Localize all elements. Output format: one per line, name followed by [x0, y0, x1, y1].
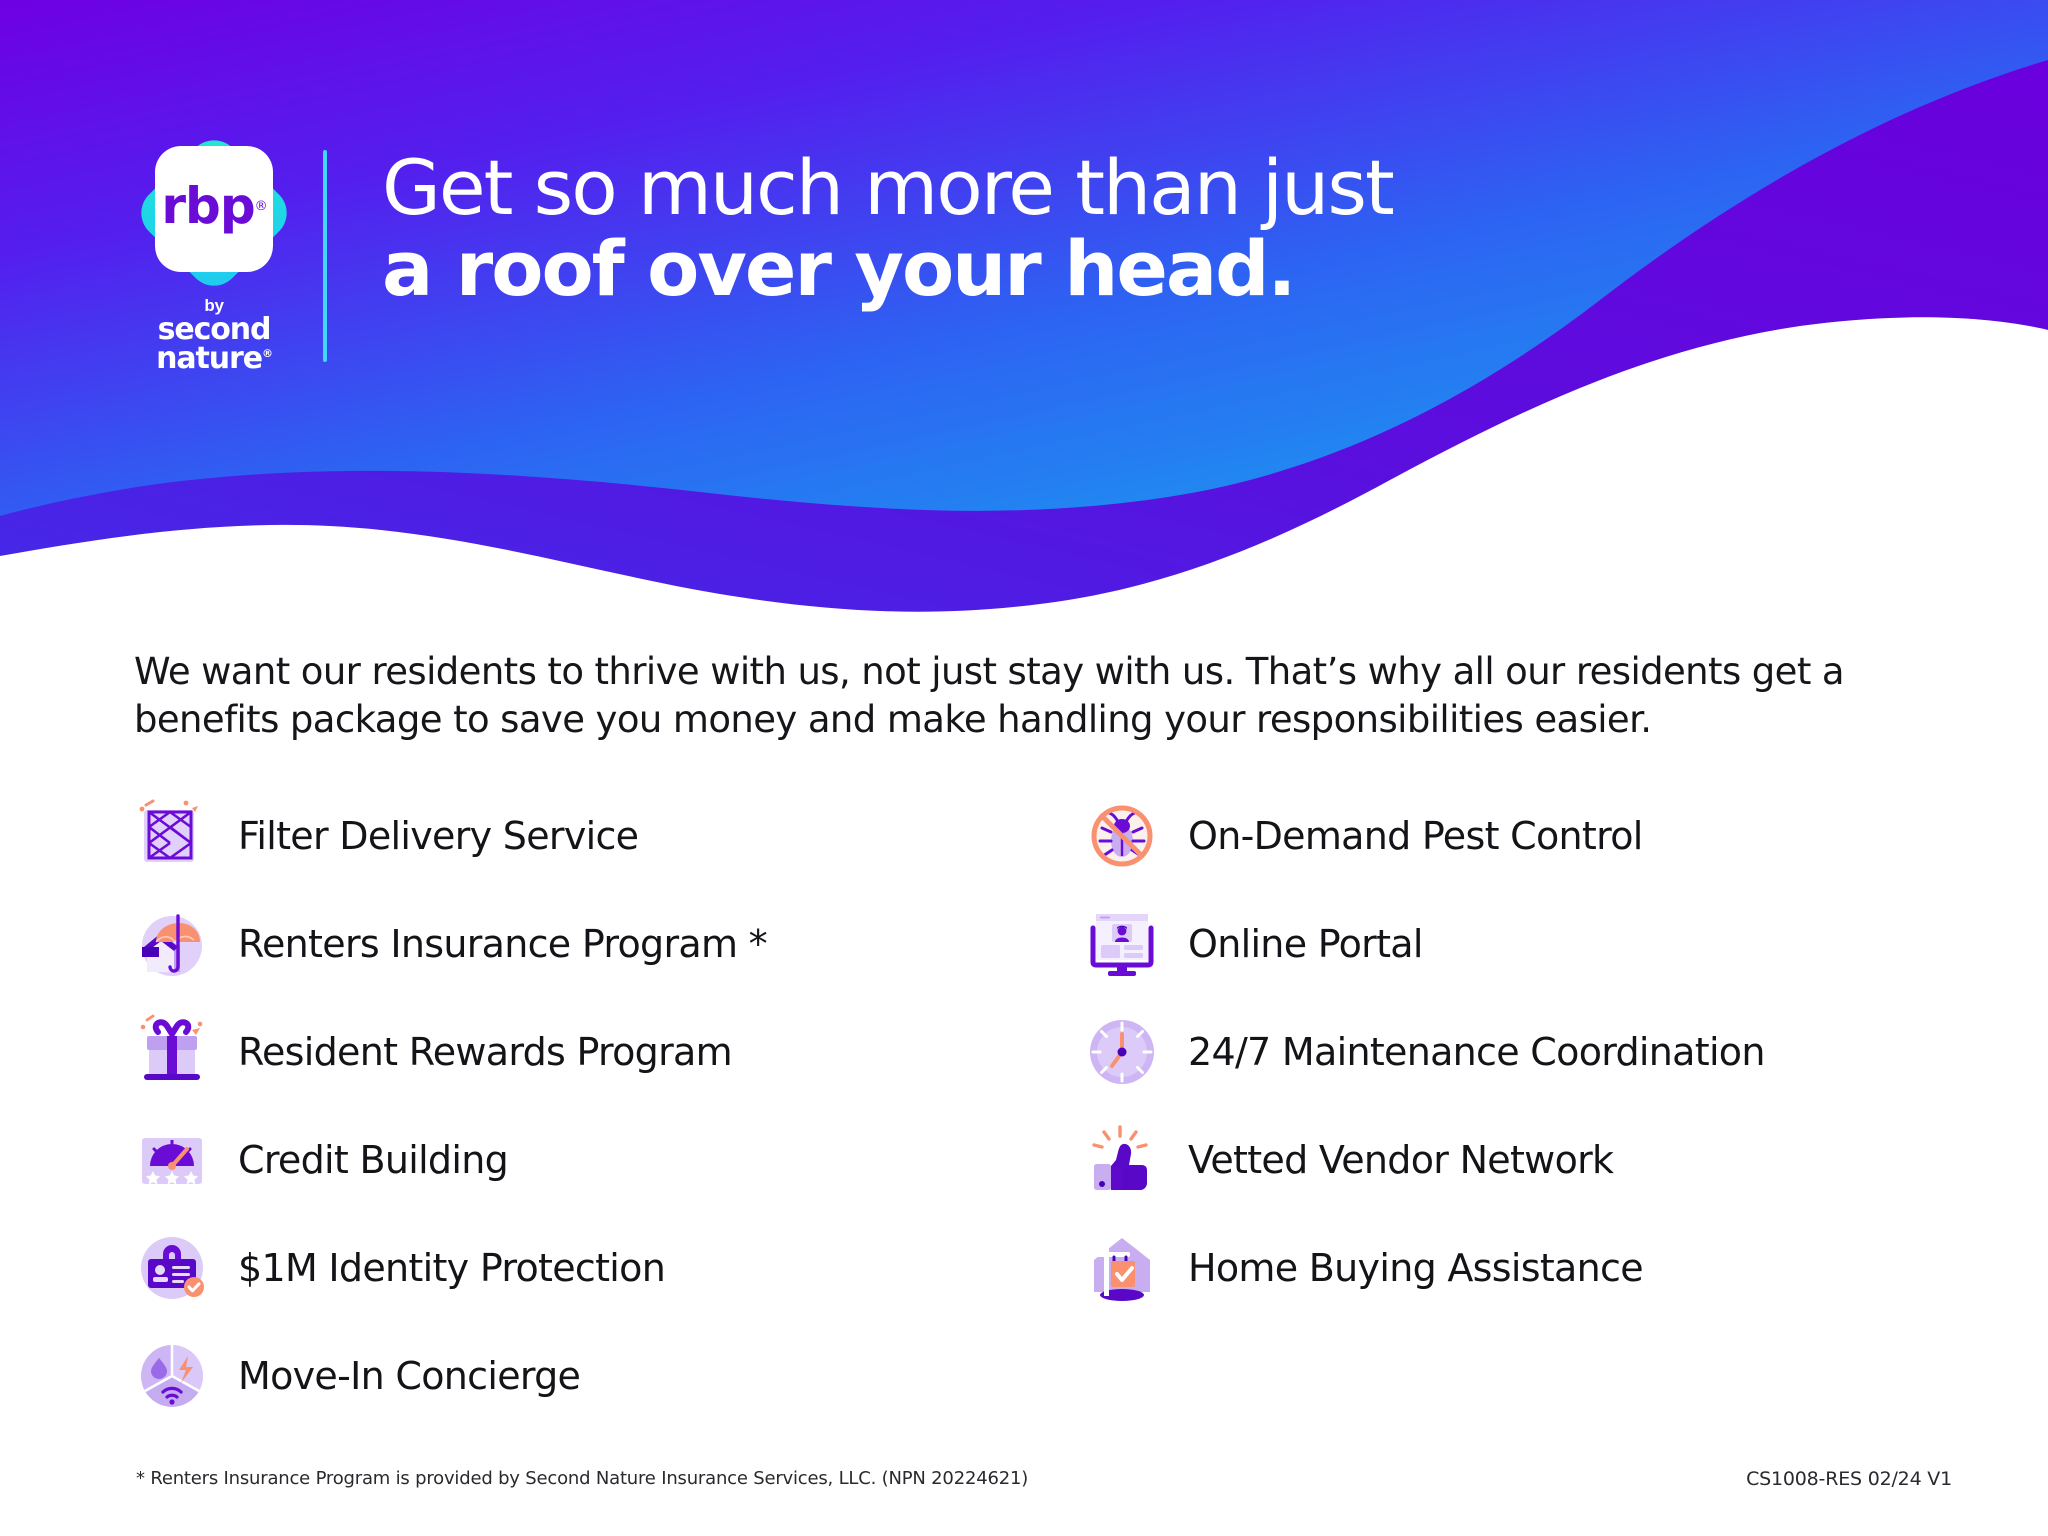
benefit-item-identity-protection: $1M Identity Protection	[134, 1227, 1034, 1309]
hero-vertical-divider	[323, 150, 327, 362]
benefit-label: Resident Rewards Program	[238, 1030, 732, 1074]
logo-registered-mark: ®	[255, 199, 267, 214]
logo-tagline: by second nature®	[128, 298, 300, 373]
logo-nature-line: nature®	[128, 344, 300, 373]
benefits-right-column: On-Demand Pest Control	[1084, 795, 1964, 1335]
logo-company-registered-mark: ®	[262, 347, 272, 360]
logo-nature-text: nature	[156, 341, 262, 376]
benefit-label: $1M Identity Protection	[238, 1246, 665, 1290]
hero-headline: Get so much more than just a roof over y…	[382, 150, 1393, 311]
benefit-item-online-portal: Online Portal	[1084, 903, 1964, 985]
benefit-label: Credit Building	[238, 1138, 508, 1182]
benefit-item-renters-insurance-program: Renters Insurance Program *	[134, 903, 1034, 985]
benefit-item-move-in-concierge: Move-In Concierge	[134, 1335, 1034, 1417]
id-badge-check-icon	[134, 1230, 210, 1306]
rbp-logo: rbp® by second nature®	[128, 140, 300, 380]
benefit-item-vetted-vendor-network: Vetted Vendor Network	[1084, 1119, 1964, 1201]
benefit-item-home-buying-assistance: Home Buying Assistance	[1084, 1227, 1964, 1309]
benefit-label: 24/7 Maintenance Coordination	[1188, 1030, 1765, 1074]
benefit-label: Move-In Concierge	[238, 1354, 580, 1398]
benefit-item-pest-control: On-Demand Pest Control	[1084, 795, 1964, 877]
headline-line-2: a roof over your head.	[382, 226, 1393, 311]
intro-paragraph: We want our residents to thrive with us,…	[134, 648, 1924, 744]
benefit-label: Renters Insurance Program *	[238, 922, 767, 966]
footer-document-code: CS1008-RES 02/24 V1	[1746, 1468, 1952, 1490]
benefit-item-resident-rewards-program: Resident Rewards Program	[134, 1011, 1034, 1093]
benefit-label: Home Buying Assistance	[1188, 1246, 1643, 1290]
house-umbrella-icon	[134, 906, 210, 982]
house-for-sale-icon	[1084, 1230, 1160, 1306]
logo-rbp-text: rbp	[161, 177, 254, 235]
benefits-left-column: Filter Delivery Service Renters Insuranc…	[134, 795, 1034, 1443]
benefit-item-maintenance-coordination: 24/7 Maintenance Coordination	[1084, 1011, 1964, 1093]
footer-disclaimer: * Renters Insurance Program is provided …	[136, 1468, 1028, 1489]
logo-mark: rbp®	[141, 140, 287, 286]
gift-box-icon	[134, 1014, 210, 1090]
logo-second-text: second	[128, 315, 300, 344]
monitor-person-icon	[1084, 906, 1160, 982]
benefit-label: Filter Delivery Service	[238, 814, 638, 858]
benefit-item-filter-delivery-service: Filter Delivery Service	[134, 795, 1034, 877]
credit-gauge-icon	[134, 1122, 210, 1198]
headline-line-1: Get so much more than just	[382, 150, 1393, 226]
benefit-item-credit-building: Credit Building	[134, 1119, 1034, 1201]
thumbs-up-icon	[1084, 1122, 1160, 1198]
hero-banner: rbp® by second nature® Get so much more …	[0, 0, 2048, 620]
logo-wordmark-text: rbp®	[141, 140, 287, 272]
no-bug-icon	[1084, 798, 1160, 874]
clock-icon	[1084, 1014, 1160, 1090]
utilities-circle-icon	[134, 1338, 210, 1414]
benefit-label: Online Portal	[1188, 922, 1423, 966]
benefit-label: Vetted Vendor Network	[1188, 1138, 1613, 1182]
benefit-label: On-Demand Pest Control	[1188, 814, 1643, 858]
air-filter-icon	[134, 798, 210, 874]
